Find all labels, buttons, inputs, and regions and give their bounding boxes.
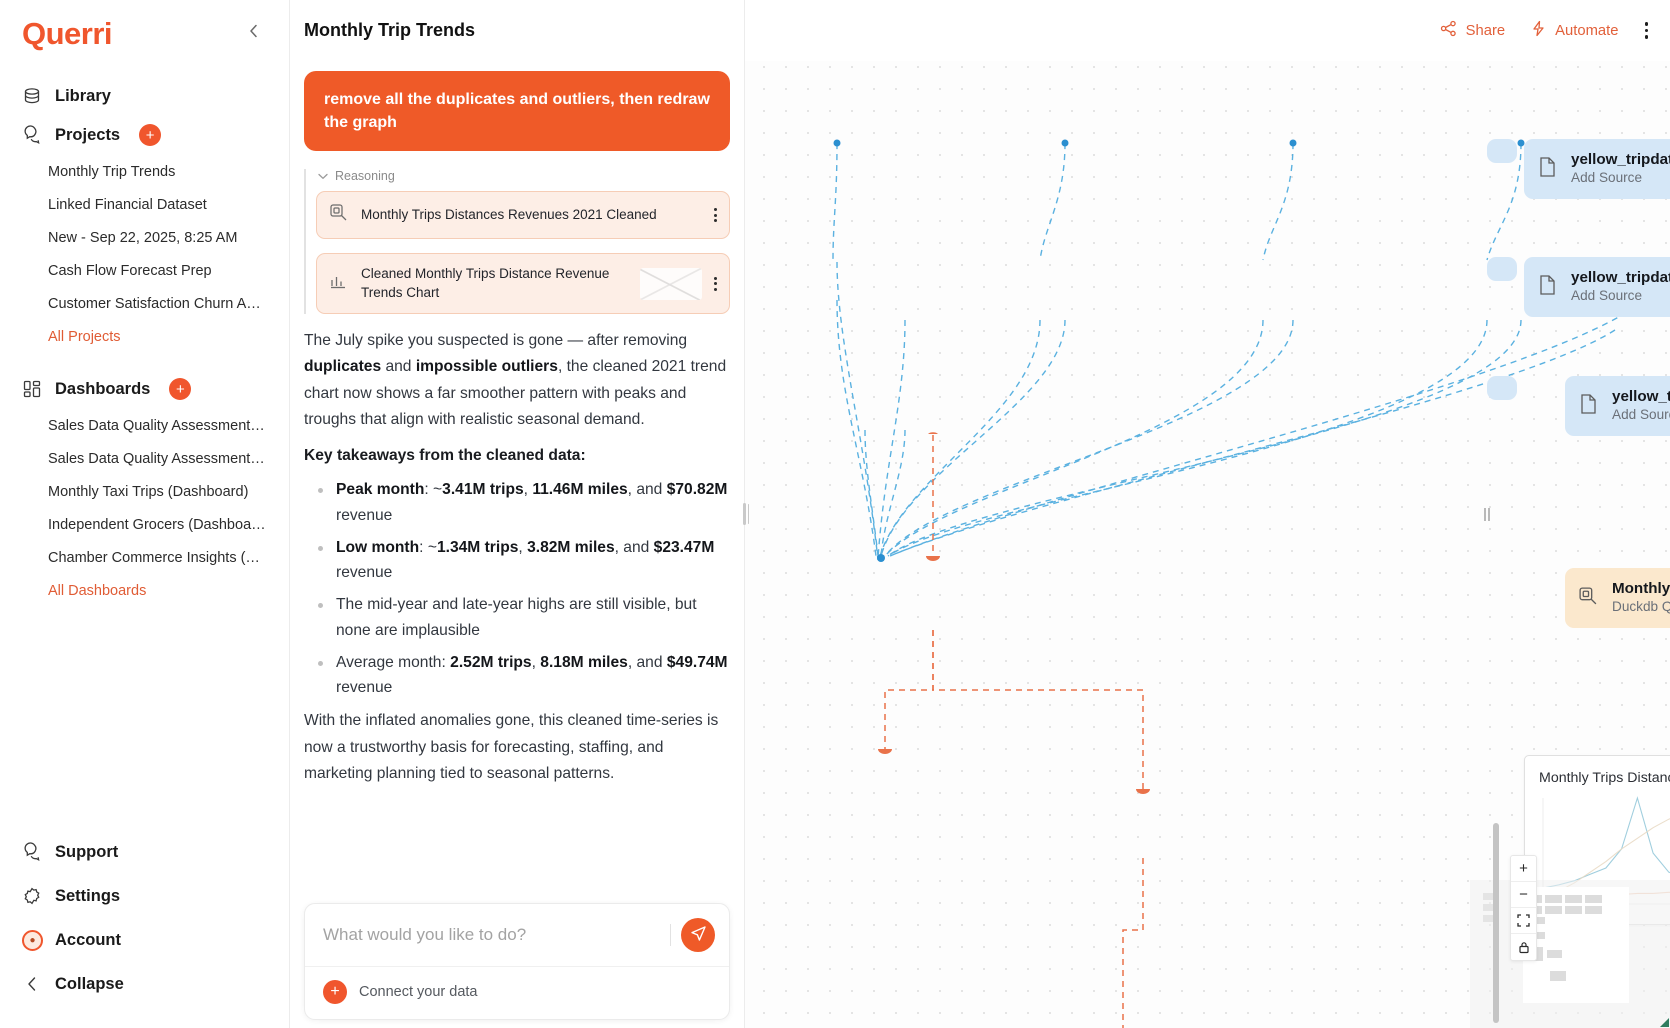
zoom-in-button[interactable]: + bbox=[1511, 856, 1536, 882]
flow-node-query[interactable]: Monthly Trips Di… Duckdb Query bbox=[1565, 568, 1670, 628]
panel-resize-handle[interactable] bbox=[738, 0, 750, 1028]
assistant-message: The July spike you suspected is gone — a… bbox=[304, 328, 730, 788]
sidebar-item-library[interactable]: Library bbox=[0, 77, 289, 115]
chevron-down-icon bbox=[318, 169, 328, 183]
chat-input[interactable] bbox=[323, 925, 670, 945]
sidebar-collapse-button[interactable]: Collapse bbox=[0, 962, 289, 1006]
zoom-controls: + − bbox=[1510, 855, 1537, 961]
flow-node-source[interactable]: yellow_tripdata_… Add Source bbox=[1524, 139, 1670, 199]
share-label: Share bbox=[1466, 23, 1506, 39]
chat-panel: Monthly Trip Trends remove all the dupli… bbox=[290, 0, 745, 1028]
flow-node-source-clipped[interactable] bbox=[1487, 139, 1517, 163]
sidebar-project-item[interactable]: Cash Flow Forecast Prep bbox=[0, 254, 289, 287]
app-logo: Querri bbox=[22, 18, 112, 49]
connect-data-plus-icon[interactable]: + bbox=[323, 980, 347, 1004]
artifact-card-query[interactable]: Monthly Trips Distances Revenues 2021 Cl… bbox=[316, 191, 730, 239]
sidebar-dashboard-item[interactable]: Sales Data Quality Assessment (… bbox=[0, 409, 289, 442]
canvas-scrollbar[interactable] bbox=[1493, 63, 1499, 1028]
lock-button[interactable] bbox=[1511, 934, 1536, 960]
dashboard-grid-icon bbox=[22, 379, 42, 399]
share-icon bbox=[1440, 20, 1457, 41]
sidebar-nav-top: Library Projects + Monthly Trip Trends L… bbox=[0, 59, 289, 607]
sidebar-project-item[interactable]: New - Sep 22, 2025, 8:25 AM bbox=[0, 221, 289, 254]
assistant-outro-paragraph: With the inflated anomalies gone, this c… bbox=[304, 708, 730, 788]
flow-node-source[interactable]: yellow_tripdata_… Add Source bbox=[1524, 257, 1670, 317]
flow-node-title: yellow_tripdata_… bbox=[1571, 151, 1670, 168]
gear-icon bbox=[22, 886, 42, 906]
chevron-left-icon bbox=[22, 974, 42, 994]
add-project-button[interactable]: + bbox=[139, 124, 161, 146]
flow-node-title: Monthly Trips Di… bbox=[1612, 580, 1670, 597]
flow-node-subtitle: Duckdb Query bbox=[1612, 599, 1670, 614]
sidebar-item-dashboards-label: Dashboards bbox=[55, 380, 150, 399]
file-icon bbox=[1537, 156, 1559, 183]
minimap-resize-handle[interactable] bbox=[1660, 1018, 1669, 1027]
sidebar: Querri Library bbox=[0, 0, 290, 1028]
sidebar-item-account[interactable]: ● Account bbox=[0, 918, 289, 962]
takeaway-item: The mid-year and late-year highs are sti… bbox=[304, 592, 730, 643]
sidebar-dashboard-item[interactable]: Independent Grocers (Dashboard) bbox=[0, 508, 289, 541]
fit-view-button[interactable] bbox=[1511, 908, 1536, 934]
send-button[interactable] bbox=[681, 918, 715, 952]
flow-node-source-clipped[interactable] bbox=[1487, 376, 1517, 400]
query-icon bbox=[1578, 586, 1600, 611]
file-icon bbox=[1537, 274, 1559, 301]
user-message: remove all the duplicates and outliers, … bbox=[304, 71, 730, 151]
sidebar-item-settings[interactable]: Settings bbox=[0, 874, 289, 918]
query-icon bbox=[329, 203, 349, 227]
flow-canvas[interactable]: yellow_tripdata_… Add Source yellow_trip… bbox=[745, 0, 1670, 1028]
flow-node-title: yellow_tripdata_… bbox=[1571, 269, 1670, 286]
sidebar-dashboard-item[interactable]: Sales Data Quality Assessment (… bbox=[0, 442, 289, 475]
flow-node-subtitle: Add Source bbox=[1612, 407, 1670, 422]
artifact-thumbnail bbox=[640, 268, 702, 300]
reasoning-toggle[interactable]: Reasoning bbox=[306, 169, 730, 191]
database-icon bbox=[22, 86, 42, 106]
chat-header: Monthly Trip Trends bbox=[290, 0, 744, 61]
lightning-icon bbox=[1531, 20, 1546, 41]
takeaways-list: Peak month: ~3.41M trips, 11.46M miles, … bbox=[304, 477, 730, 700]
share-button[interactable]: Share bbox=[1440, 20, 1506, 41]
composer-input-row bbox=[305, 904, 729, 966]
artifact-menu-icon[interactable] bbox=[714, 208, 717, 222]
flow-node-title: Monthly Trips Distance… bbox=[1539, 770, 1670, 786]
file-icon bbox=[1578, 393, 1600, 420]
sidebar-logo-row: Querri bbox=[0, 0, 289, 59]
sidebar-dashboard-item[interactable]: Monthly Taxi Trips (Dashboard) bbox=[0, 475, 289, 508]
send-icon bbox=[690, 925, 707, 945]
takeaway-item: Peak month: ~3.41M trips, 11.46M miles, … bbox=[304, 477, 730, 528]
minimap[interactable] bbox=[1470, 880, 1670, 1028]
reasoning-block: Reasoning Monthly Trips Distances Revenu… bbox=[304, 169, 730, 313]
sidebar-dashboard-item[interactable]: Chamber Commerce Insights (D… bbox=[0, 541, 289, 574]
sidebar-collapse-chevron-icon[interactable] bbox=[240, 19, 267, 48]
sidebar-item-projects-label: Projects bbox=[55, 126, 120, 145]
takeaways-heading: Key takeaways from the cleaned data: bbox=[304, 443, 730, 470]
canvas-toolbar: Share Automate bbox=[745, 0, 1670, 61]
sidebar-item-library-label: Library bbox=[55, 87, 111, 106]
composer-divider bbox=[670, 924, 671, 946]
scrollbar-thumb[interactable] bbox=[1493, 823, 1499, 1023]
automate-label: Automate bbox=[1555, 23, 1618, 39]
automate-button[interactable]: Automate bbox=[1531, 20, 1618, 41]
flow-node-source-clipped[interactable] bbox=[1487, 257, 1517, 281]
chart-icon bbox=[329, 272, 349, 296]
reasoning-label: Reasoning bbox=[335, 169, 395, 183]
app-root: Querri Library bbox=[0, 0, 1670, 1028]
avatar: ● bbox=[22, 930, 42, 950]
sidebar-project-item[interactable]: Monthly Trip Trends bbox=[0, 155, 289, 188]
sidebar-project-item[interactable]: Linked Financial Dataset bbox=[0, 188, 289, 221]
composer: + Connect your data bbox=[304, 903, 730, 1020]
chat-thread: remove all the duplicates and outliers, … bbox=[290, 61, 744, 1028]
minimap-viewport bbox=[1523, 887, 1629, 1003]
support-chat-icon bbox=[22, 842, 42, 862]
sidebar-item-projects[interactable]: Projects + bbox=[0, 115, 289, 155]
add-dashboard-button[interactable]: + bbox=[169, 378, 191, 400]
sidebar-all-projects-link[interactable]: All Projects bbox=[0, 320, 289, 353]
chat-bubbles-icon bbox=[22, 125, 42, 145]
artifact-title: Cleaned Monthly Trips Distance Revenue T… bbox=[361, 265, 628, 301]
artifact-card-chart[interactable]: Cleaned Monthly Trips Distance Revenue T… bbox=[316, 253, 730, 313]
sidebar-project-item[interactable]: Customer Satisfaction Churn An… bbox=[0, 287, 289, 320]
flow-node-subtitle: Add Source bbox=[1571, 170, 1642, 185]
flow-node-title: yellow_tripdata_… bbox=[1612, 388, 1670, 405]
artifact-title: Monthly Trips Distances Revenues 2021 Cl… bbox=[361, 206, 702, 224]
sidebar-collapse-label: Collapse bbox=[55, 975, 124, 994]
sidebar-item-settings-label: Settings bbox=[55, 887, 120, 906]
sidebar-all-dashboards-link[interactable]: All Dashboards bbox=[0, 574, 289, 607]
assistant-intro-paragraph: The July spike you suspected is gone — a… bbox=[304, 328, 730, 434]
sidebar-item-account-label: Account bbox=[55, 931, 121, 950]
takeaway-item: Low month: ~1.34M trips, 3.82M miles, an… bbox=[304, 535, 730, 586]
connect-data-label: Connect your data bbox=[359, 984, 478, 1000]
canvas-panel-handle[interactable] bbox=[1484, 508, 1490, 521]
page-title: Monthly Trip Trends bbox=[304, 20, 475, 41]
sidebar-item-support[interactable]: Support bbox=[0, 830, 289, 874]
flow-node-source[interactable]: yellow_tripdata_… Add Source bbox=[1565, 376, 1670, 436]
sidebar-footer: Support Settings ● Account bbox=[0, 830, 289, 1028]
sidebar-item-dashboards[interactable]: Dashboards + bbox=[0, 369, 289, 409]
flow-node-subtitle: Add Source bbox=[1571, 288, 1642, 303]
zoom-out-button[interactable]: − bbox=[1511, 882, 1536, 908]
artifact-menu-icon[interactable] bbox=[714, 277, 717, 291]
sidebar-item-support-label: Support bbox=[55, 843, 118, 862]
more-options-icon[interactable] bbox=[1645, 22, 1649, 39]
connect-data-row[interactable]: + Connect your data bbox=[305, 966, 729, 1019]
takeaway-item: Average month: 2.52M trips, 8.18M miles,… bbox=[304, 650, 730, 701]
